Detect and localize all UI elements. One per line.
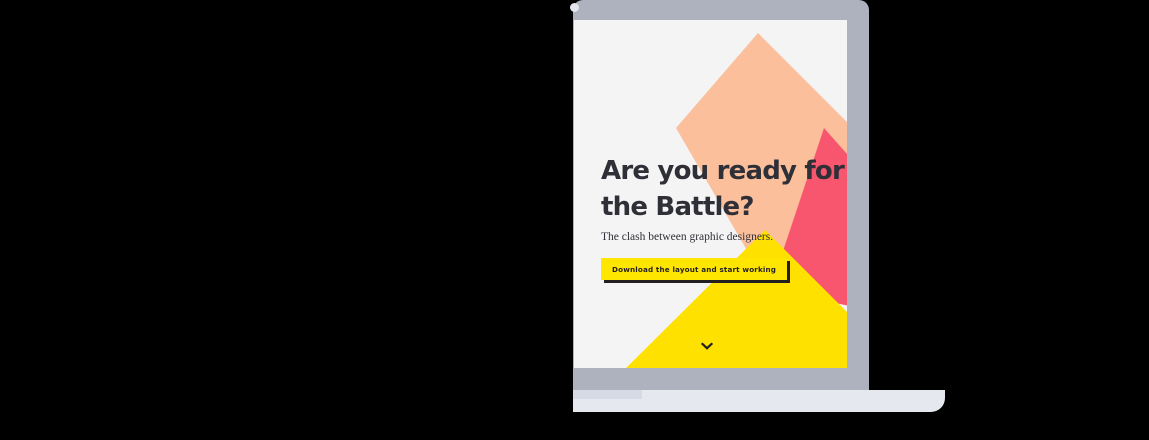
download-layout-button[interactable]: Download the layout and start working <box>601 258 787 280</box>
hero-section: Are you ready for the Battle? The clash … <box>601 153 847 280</box>
hero-subtitle: The clash between graphic designers. <box>601 230 847 244</box>
laptop-base-notch <box>573 390 642 399</box>
screenshot-stage: Are you ready for the Battle? The clash … <box>0 0 1149 440</box>
webcam-dot-icon <box>570 3 579 12</box>
cta-wrapper: Download the layout and start working <box>601 258 787 280</box>
laptop-mockup: Are you ready for the Battle? The clash … <box>0 0 1149 440</box>
page-title: Are you ready for the Battle? <box>601 153 847 225</box>
chevron-down-icon <box>699 340 715 352</box>
browser-viewport: Are you ready for the Battle? The clash … <box>574 20 847 368</box>
scroll-down-button[interactable] <box>699 340 715 352</box>
